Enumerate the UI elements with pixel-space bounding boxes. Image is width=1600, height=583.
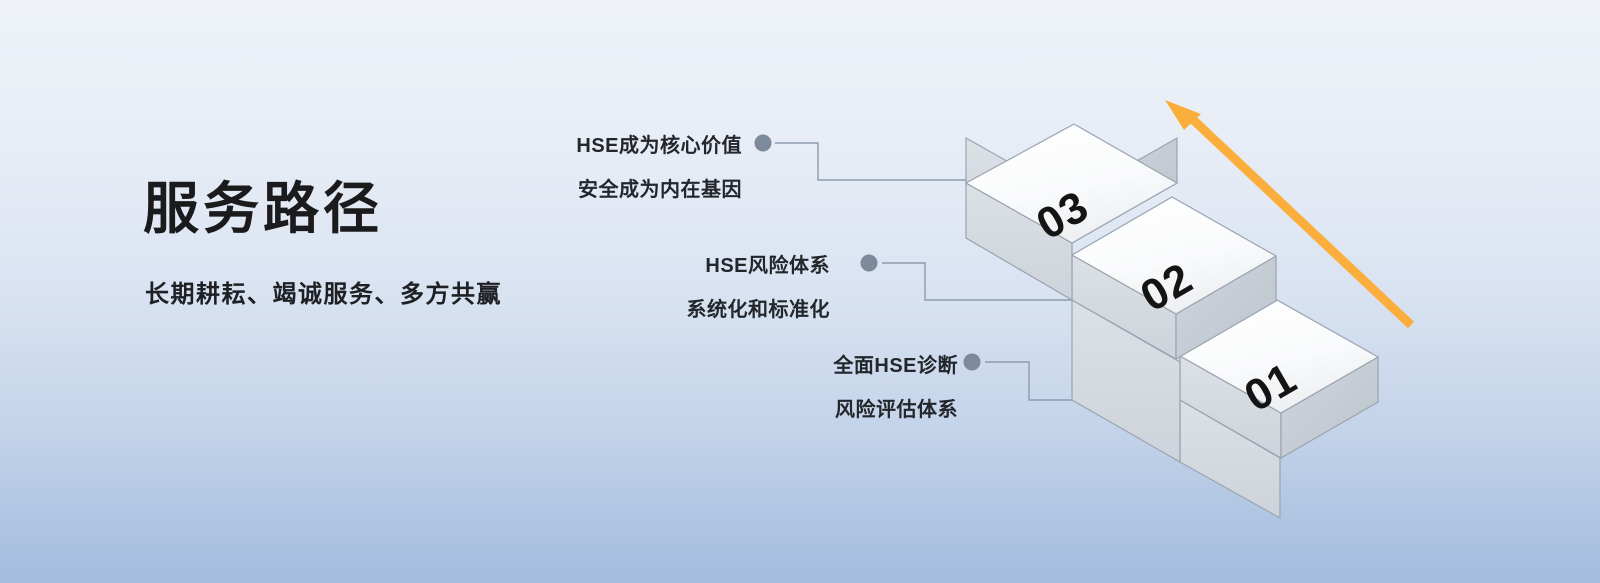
connector-dot-01 [964, 354, 981, 371]
isometric-staircase-diagram: 01 02 03 [0, 0, 1600, 583]
slide-canvas: 服务路径 长期耕耘、竭诚服务、多方共赢 HSE成为核心价值 安全成为内在基因 H… [0, 0, 1600, 583]
connector-dot-03 [755, 135, 772, 152]
connector-dot-02 [861, 255, 878, 272]
connector-03 [755, 135, 969, 181]
